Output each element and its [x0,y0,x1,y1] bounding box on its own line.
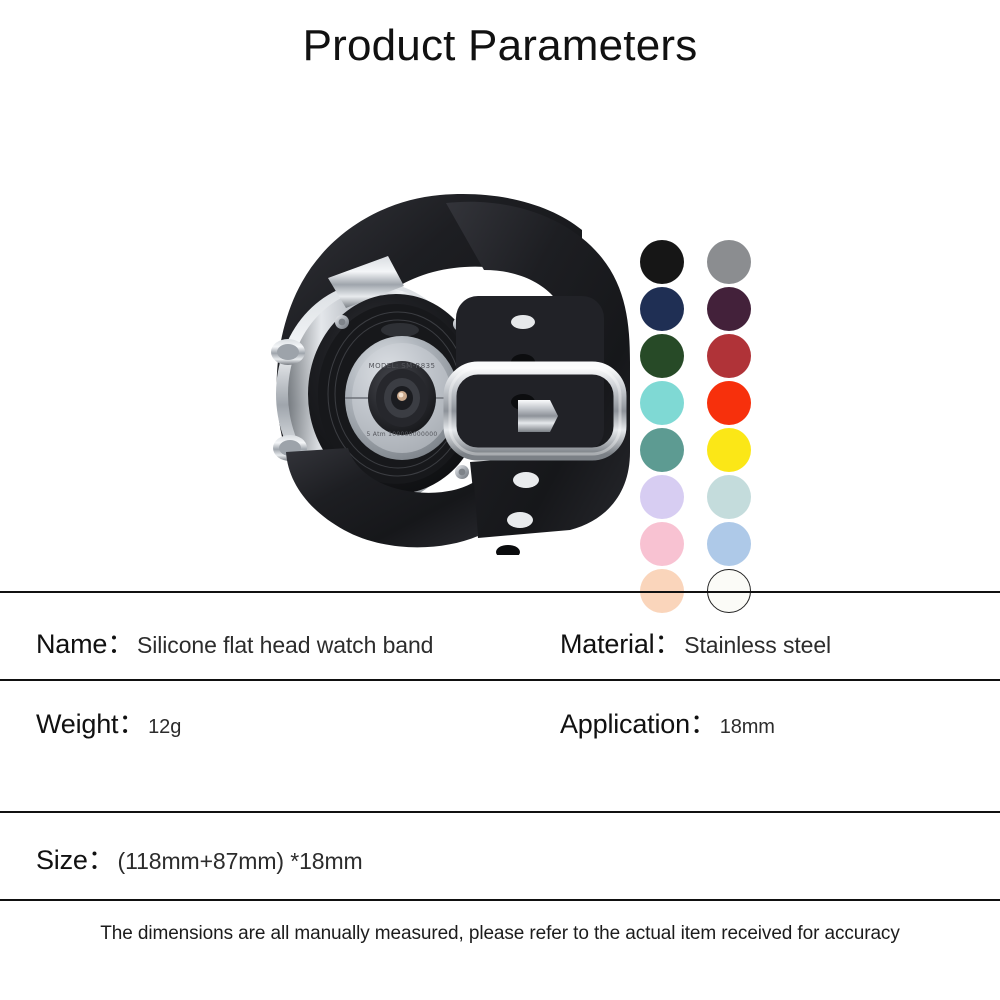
spec-label-name: Name： [36,622,134,661]
spec-label-application: Application： [560,702,717,741]
color-swatch-yellow[interactable] [707,428,751,472]
color-swatch-gray[interactable] [707,240,751,284]
spec-value-application: 18mm [720,716,775,739]
divider-middle-upper [0,679,1000,681]
color-swatch-lavender[interactable] [640,475,684,519]
product-image: MODEL: SM-R835 5 Atm 100000000000 [178,100,633,555]
color-swatch-light-blue[interactable] [707,522,751,566]
color-swatch-pink[interactable] [640,522,684,566]
color-swatch-dark-plum[interactable] [707,287,751,331]
spec-cell-application: Application： 18mm [530,702,1000,741]
divider-bottom [0,899,1000,901]
color-swatch-pale-blue-gray[interactable] [707,475,751,519]
spec-cell-name: Name： Silicone flat head watch band [0,622,530,661]
divider-top [0,591,1000,593]
color-swatch-orange-red[interactable] [707,381,751,425]
spec-row-weight-application: Weight： 12g Application： 18mm [0,702,1000,741]
spec-label-material: Material： [560,622,681,661]
svg-text:MODEL: SM-R835: MODEL: SM-R835 [369,362,436,370]
color-swatch-black[interactable] [640,240,684,284]
spec-value-weight: 12g [148,716,181,739]
spec-value-material: Stainless steel [684,632,831,659]
spec-label-weight: Weight： [36,702,145,741]
spec-cell-size: Size： (118mm+87mm) *18mm [0,838,530,877]
svg-text:5 Atm 100000000000: 5 Atm 100000000000 [366,431,437,438]
divider-middle-lower [0,811,1000,813]
spec-cell-material: Material： Stainless steel [530,622,1000,661]
footer-disclaimer: The dimensions are all manually measured… [0,923,1000,945]
spec-value-size: (118mm+87mm) *18mm [118,848,363,875]
spec-row-size: Size： (118mm+87mm) *18mm [0,838,1000,877]
color-swatch-dark-green[interactable] [640,334,684,378]
spec-label-size: Size： [36,838,115,877]
color-swatch-grid[interactable] [638,238,752,614]
spec-row-name-material: Name： Silicone flat head watch band Mate… [0,622,1000,661]
color-swatch-teal[interactable] [640,428,684,472]
color-swatch-brick-red[interactable] [707,334,751,378]
hero-section: MODEL: SM-R835 5 Atm 100000000000 [0,95,1000,565]
page-title: Product Parameters [0,22,1000,70]
spec-value-name: Silicone flat head watch band [137,632,433,659]
color-swatch-navy-blue[interactable] [640,287,684,331]
spec-cell-weight: Weight： 12g [0,702,530,741]
color-swatch-turquoise[interactable] [640,381,684,425]
